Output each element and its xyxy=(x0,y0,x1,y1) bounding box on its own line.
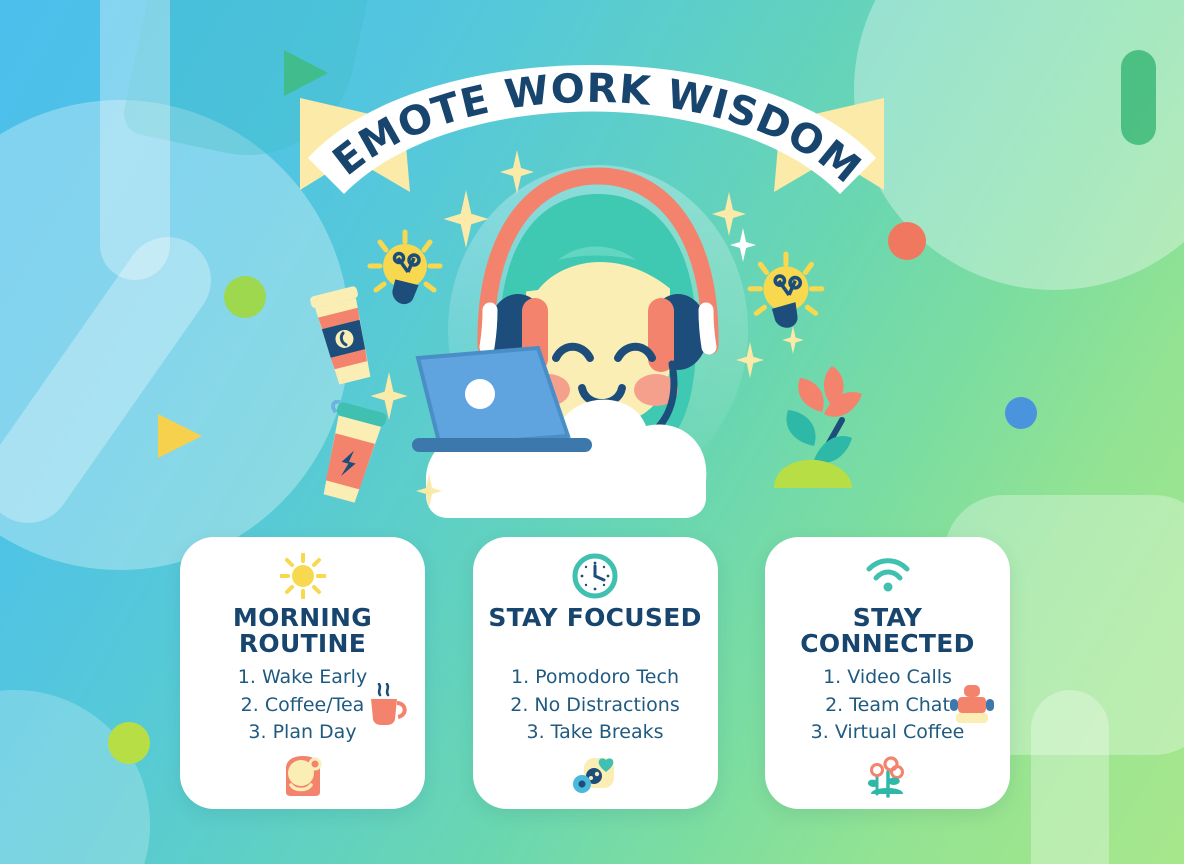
flower-icon xyxy=(777,753,998,799)
card-title: STAY FOCUSED xyxy=(488,605,701,631)
plant-icon xyxy=(770,352,880,502)
sparkle-icon xyxy=(370,372,408,420)
play-triangle-icon-yellow xyxy=(158,414,202,458)
decor-dot-green xyxy=(224,276,266,318)
card-stay-connected[interactable]: STAY CONNECTED 1. Video Calls 2. Team Ch… xyxy=(765,537,1010,809)
tips-card-row: MORNING ROUTINE 1. Wake Early 2. Coffee/… xyxy=(180,537,1010,817)
clock-icon xyxy=(572,553,618,599)
card-title: STAY CONNECTED xyxy=(800,605,974,658)
decor-dot-lime xyxy=(108,722,150,764)
sparkle-icon xyxy=(443,190,489,248)
decor-dot-blue xyxy=(1005,397,1037,429)
poster-canvas: REMOTE WORK WISDOM! xyxy=(0,0,1184,864)
card-morning-routine[interactable]: MORNING ROUTINE 1. Wake Early 2. Coffee/… xyxy=(180,537,425,809)
video-camera-icon xyxy=(948,683,996,729)
sparkle-icon xyxy=(782,326,804,354)
sparkle-icon xyxy=(500,150,534,194)
card-stay-focused[interactable]: STAY FOCUSED 1. Pomodoro Tech 2. No Dist… xyxy=(473,537,718,809)
sun-icon xyxy=(280,553,326,599)
list-item: 1. Pomodoro Tech xyxy=(485,664,706,692)
laptop-logo xyxy=(465,379,495,409)
laptop-base xyxy=(412,438,592,452)
card-title: MORNING ROUTINE xyxy=(233,605,372,658)
bg-circle-bottom-left xyxy=(0,690,150,864)
sparkle-icon xyxy=(736,342,764,378)
alarm-clock-icon xyxy=(192,753,413,799)
wifi-icon xyxy=(865,553,911,599)
sparkle-icon xyxy=(416,474,442,508)
focus-badge-icon xyxy=(485,753,706,799)
list-item: 2. No Distractions xyxy=(485,692,706,720)
card-list: 1. Pomodoro Tech 2. No Distractions 3. T… xyxy=(485,664,706,747)
sparkle-icon xyxy=(730,228,756,262)
bg-pill-bottom-right xyxy=(1031,690,1109,864)
list-item: 3. Take Breaks xyxy=(485,719,706,747)
bg-green-pill-top-right xyxy=(1121,50,1156,145)
coffee-mug-icon xyxy=(365,683,411,729)
